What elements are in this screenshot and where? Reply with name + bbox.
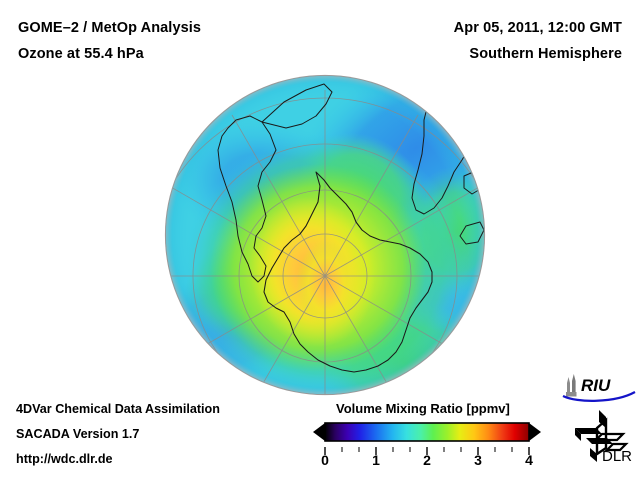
dlr-logo-svg: DLR [566, 408, 636, 464]
analysis-region: Southern Hemisphere [469, 46, 622, 62]
colorbar-right-arrow [529, 423, 541, 441]
analysis-subtitle: Ozone at 55.4 hPa [18, 46, 144, 62]
riu-tower-icon [566, 374, 577, 397]
caption-version: SACADA Version 1.7 [16, 427, 139, 441]
colorbar-tick-4: 4 [525, 452, 533, 468]
colorbar-tick-1: 1 [372, 452, 380, 468]
colorbar-tick-3: 3 [474, 452, 482, 468]
analysis-title: GOME–2 / MetOp Analysis [18, 20, 201, 36]
caption-method: 4DVar Chemical Data Assimilation [16, 402, 220, 416]
globe-disc [166, 76, 484, 394]
colorbar-left-arrow [313, 423, 325, 441]
dlr-logo: DLR [566, 408, 636, 464]
dlr-logo-text: DLR [602, 448, 632, 464]
colorbar [313, 420, 541, 444]
colorbar-gradient [325, 423, 529, 441]
colorbar-svg [313, 420, 541, 444]
ozone-field-svg [166, 76, 484, 394]
visualization-canvas: GOME–2 / MetOp Analysis Ozone at 55.4 hP… [0, 0, 640, 480]
ozone-globe-map [166, 76, 484, 394]
riu-logo-svg: RIU [561, 372, 637, 402]
riu-logo: RIU [561, 372, 637, 402]
analysis-timestamp: Apr 05, 2011, 12:00 GMT [454, 20, 622, 36]
colorbar-tick-labels: 0 1 2 3 4 [303, 452, 551, 472]
colorbar-tick-2: 2 [423, 452, 431, 468]
colorbar-title: Volume Mixing Ratio [ppmv] [336, 401, 510, 416]
colorbar-tick-0: 0 [321, 452, 329, 468]
riu-logo-text: RIU [581, 376, 611, 395]
caption-url: http://wdc.dlr.de [16, 452, 113, 466]
